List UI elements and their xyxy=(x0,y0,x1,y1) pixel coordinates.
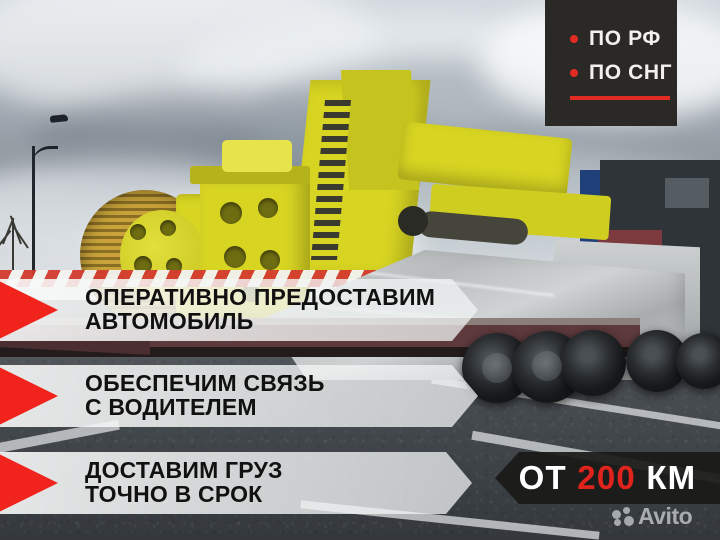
badge-item-label: ПО РФ xyxy=(589,28,661,49)
avito-watermark: Avito xyxy=(612,505,692,528)
boom-arm xyxy=(397,121,572,196)
distance-unit: КМ xyxy=(646,459,696,496)
badge-item-label: ПО СНГ xyxy=(589,62,672,83)
feature-banner-driver-contact: ОБЕСПЕЧИМ СВЯЗЬ С ВОДИТЕЛЕМ xyxy=(0,365,478,427)
feature-banner-on-time: ДОСТАВИМ ГРУЗ ТОЧНО В СРОК xyxy=(0,452,472,514)
coverage-badge: ПО РФ ПО СНГ xyxy=(545,0,677,126)
feature-banner-vehicle: ОПЕРАТИВНО ПРЕДОСТАВИМ АВТОМОБИЛЬ xyxy=(0,279,478,341)
bullet-icon xyxy=(570,35,578,43)
distance-number: 200 xyxy=(577,459,636,496)
distance-prefix: ОТ xyxy=(519,459,567,496)
avito-wordmark: Avito xyxy=(638,505,692,528)
machine-cap xyxy=(222,140,292,172)
avito-logo-icon xyxy=(612,507,634,527)
bullet-icon xyxy=(570,69,578,77)
wheel-rim xyxy=(482,353,512,383)
machine-knob xyxy=(398,206,428,236)
distance-text: ОТ 200 КМ xyxy=(519,459,697,497)
distance-badge: ОТ 200 КМ xyxy=(495,452,720,504)
ad-poster: ПО РФ ПО СНГ ОПЕРАТИВНО ПРЕДОСТАВИМ АВТО… xyxy=(0,0,720,540)
truck-window xyxy=(665,178,709,208)
badge-item-rf: ПО РФ xyxy=(570,28,661,49)
feature-banner-text: ДОСТАВИМ ГРУЗ ТОЧНО В СРОК xyxy=(85,459,283,507)
badge-divider xyxy=(570,96,670,100)
feature-banner-text: ОБЕСПЕЧИМ СВЯЗЬ С ВОДИТЕЛЕМ xyxy=(85,372,325,420)
wheel-rim xyxy=(532,351,562,381)
trailer-wheel xyxy=(560,330,626,396)
badge-item-sng: ПО СНГ xyxy=(570,62,672,83)
feature-banner-text: ОПЕРАТИВНО ПРЕДОСТАВИМ АВТОМОБИЛЬ xyxy=(85,286,435,334)
